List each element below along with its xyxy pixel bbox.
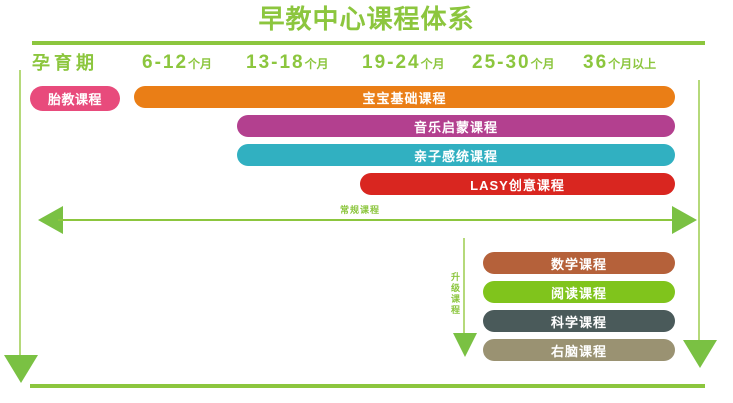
age-header-1: 6-12个月: [142, 51, 212, 76]
page-title: 早教中心课程体系: [0, 2, 733, 36]
regular-courses-label: 常规课程: [340, 203, 380, 216]
course-bar-lasy[interactable]: LASY创意课程: [360, 173, 675, 195]
guide-line-mid: [463, 238, 465, 336]
infographic-canvas: 早教中心课程体系 孕育期 6-12个月 13-18个月 19-24个月 25-3…: [0, 0, 733, 403]
arrow-down-mid-icon: [453, 333, 477, 357]
guide-line-left: [19, 70, 21, 360]
divider-bottom: [30, 384, 705, 388]
arrow-down-left-icon: [4, 355, 38, 383]
age-header-3: 19-24个月: [362, 51, 445, 76]
course-bar-science[interactable]: 科学课程: [483, 310, 675, 332]
course-bar-math[interactable]: 数学课程: [483, 252, 675, 274]
age-header-5: 36个月以上: [583, 51, 656, 76]
guide-line-right: [698, 80, 700, 345]
arrow-down-right-icon: [683, 340, 717, 368]
upgrade-courses-label: 升级课程: [449, 272, 462, 316]
age-header-4: 25-30个月: [472, 51, 555, 76]
course-bar-baby-basics[interactable]: 宝宝基础课程: [134, 86, 675, 108]
course-bar-parent-child[interactable]: 亲子感统课程: [237, 144, 675, 166]
course-bar-brain[interactable]: 右脑课程: [483, 339, 675, 361]
age-header-2: 13-18个月: [246, 51, 329, 76]
divider-top: [32, 41, 705, 45]
regular-span-line: [58, 219, 678, 221]
arrow-right-icon: [672, 206, 697, 234]
course-bar-music[interactable]: 音乐启蒙课程: [237, 115, 675, 137]
age-header-0: 孕育期: [32, 51, 98, 77]
age-header-row: 孕育期 6-12个月 13-18个月 19-24个月 25-30个月 36个月以…: [0, 51, 733, 77]
badge-prenatal-course[interactable]: 胎教课程: [30, 86, 120, 111]
course-bar-reading[interactable]: 阅读课程: [483, 281, 675, 303]
